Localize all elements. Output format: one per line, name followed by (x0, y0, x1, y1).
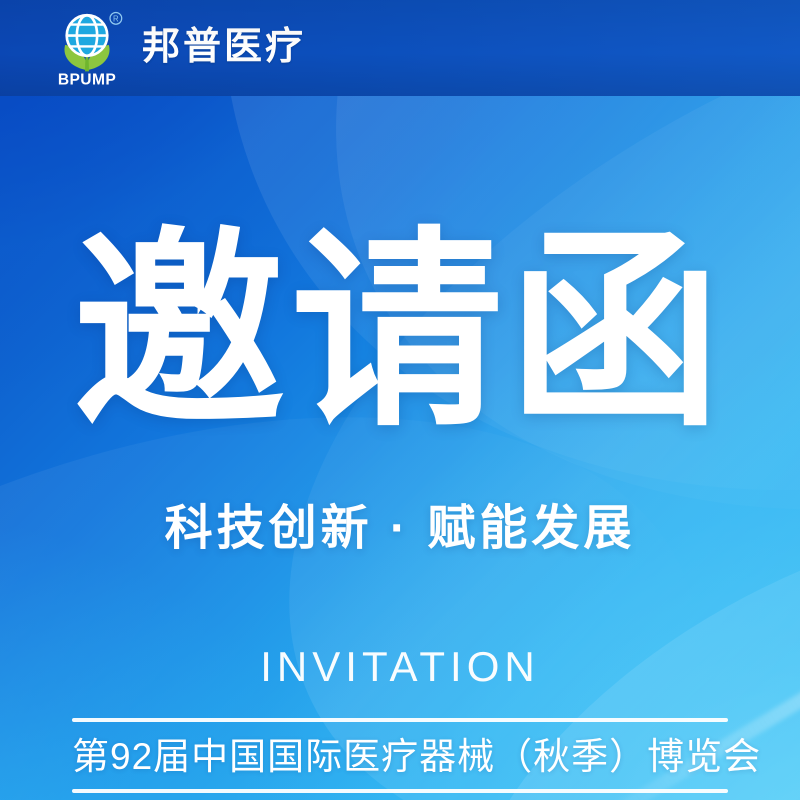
subtitle: 科技创新 · 赋能发展 (0, 505, 800, 553)
event-bar: 第92届中国国际医疗器械（秋季）博览会 (72, 718, 728, 793)
globe-grid-circle-icon (67, 15, 108, 56)
divider-bottom (72, 789, 728, 793)
event-name: 第92届中国国际医疗器械（秋季）博览会 (72, 722, 728, 789)
invitation-english-label: INVITATION (0, 646, 800, 688)
registered-mark-icon: R (110, 13, 122, 25)
svg-text:R: R (113, 14, 119, 23)
bpump-logo: R BPUMP (48, 9, 126, 87)
invitation-poster: R BPUMP 邦普医疗 邀请函 科技创新 · 赋能发展 INVITATION … (0, 0, 800, 800)
header-bar: R BPUMP 邦普医疗 (0, 0, 800, 96)
page-title: 邀请函 (0, 226, 800, 438)
bpump-wordmark: BPUMP (58, 72, 116, 87)
brand-name: 邦普医疗 (142, 28, 306, 66)
